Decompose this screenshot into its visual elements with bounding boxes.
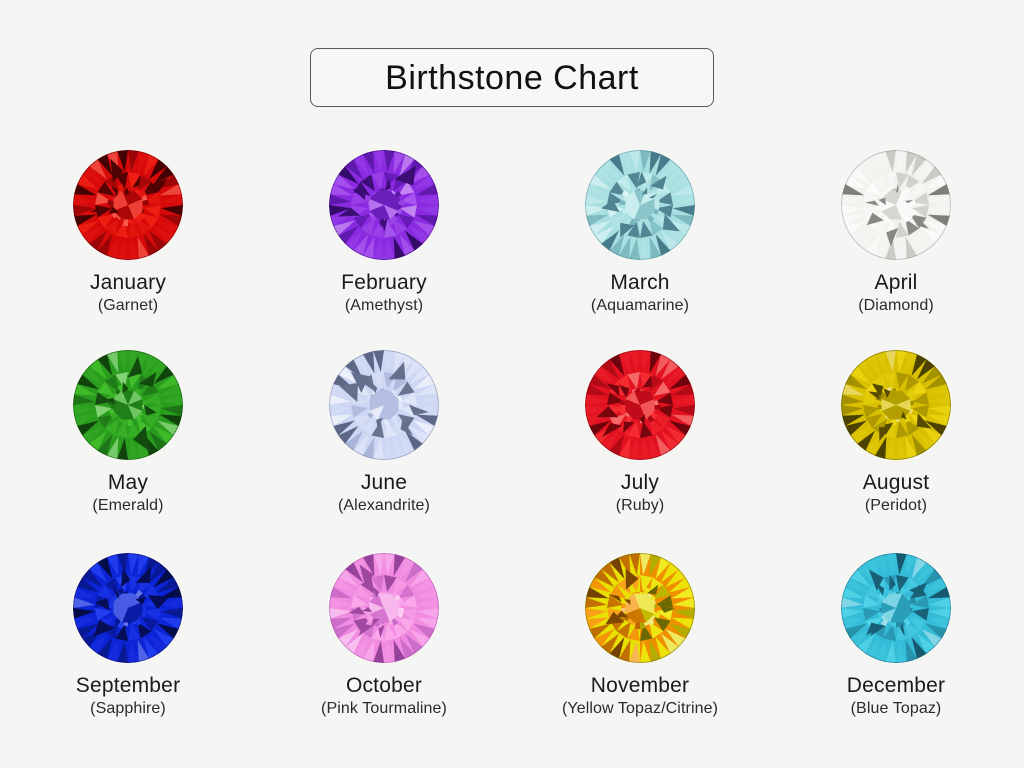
birthstone-cell-february: February(Amethyst): [256, 144, 512, 344]
stone-label: (Garnet): [98, 298, 158, 315]
month-label: April: [874, 272, 917, 294]
birthstone-cell-june: June(Alexandrite): [256, 344, 512, 547]
month-label: March: [610, 272, 669, 294]
birthstone-grid: January(Garnet)February(Amethyst)March(A…: [0, 144, 1024, 754]
gem-icon-april: [841, 150, 951, 260]
month-label: September: [76, 675, 181, 697]
stone-label: (Alexandrite): [338, 498, 430, 515]
month-label: November: [591, 675, 689, 697]
stone-label: (Emerald): [92, 498, 163, 515]
gem-icon-july: [585, 350, 695, 460]
gemstone-march: [585, 150, 695, 260]
month-label: January: [90, 272, 166, 294]
page-title-box: Birthstone Chart: [310, 48, 714, 107]
stone-label: (Ruby): [616, 498, 665, 515]
gem-icon-october: [329, 553, 439, 663]
gem-icon-february: [329, 150, 439, 260]
gemstone-june: [329, 350, 439, 460]
stone-label: (Pink Tourmaline): [321, 701, 447, 718]
gemstone-september: [73, 553, 183, 663]
month-label: February: [341, 272, 427, 294]
page-title: Birthstone Chart: [385, 61, 639, 95]
gem-icon-november: [585, 553, 695, 663]
gem-icon-may: [73, 350, 183, 460]
birthstone-cell-march: March(Aquamarine): [512, 144, 768, 344]
gem-icon-august: [841, 350, 951, 460]
birthstone-cell-may: May(Emerald): [0, 344, 256, 547]
gemstone-august: [841, 350, 951, 460]
stone-label: (Yellow Topaz/Citrine): [562, 701, 718, 718]
birthstone-cell-october: October(Pink Tourmaline): [256, 547, 512, 754]
birthstone-cell-january: January(Garnet): [0, 144, 256, 344]
birthstone-cell-september: September(Sapphire): [0, 547, 256, 754]
birthstone-cell-april: April(Diamond): [768, 144, 1024, 344]
gem-icon-january: [73, 150, 183, 260]
stone-label: (Blue Topaz): [851, 701, 942, 718]
gemstone-may: [73, 350, 183, 460]
birthstone-cell-december: December(Blue Topaz): [768, 547, 1024, 754]
birthstone-cell-august: August(Peridot): [768, 344, 1024, 547]
gemstone-november: [585, 553, 695, 663]
birthstone-cell-november: November(Yellow Topaz/Citrine): [512, 547, 768, 754]
stone-label: (Aquamarine): [591, 298, 689, 315]
stone-label: (Peridot): [865, 498, 927, 515]
gem-icon-september: [73, 553, 183, 663]
month-label: August: [863, 472, 930, 494]
gemstone-december: [841, 553, 951, 663]
gemstone-april: [841, 150, 951, 260]
birthstone-cell-july: July(Ruby): [512, 344, 768, 547]
gemstone-july: [585, 350, 695, 460]
gem-icon-june: [329, 350, 439, 460]
gemstone-january: [73, 150, 183, 260]
gemstone-october: [329, 553, 439, 663]
month-label: June: [361, 472, 407, 494]
month-label: December: [847, 675, 945, 697]
month-label: July: [621, 472, 659, 494]
gem-icon-december: [841, 553, 951, 663]
stone-label: (Amethyst): [345, 298, 423, 315]
month-label: May: [108, 472, 148, 494]
stone-label: (Diamond): [858, 298, 934, 315]
gemstone-february: [329, 150, 439, 260]
gem-icon-march: [585, 150, 695, 260]
month-label: October: [346, 675, 422, 697]
stone-label: (Sapphire): [90, 701, 166, 718]
